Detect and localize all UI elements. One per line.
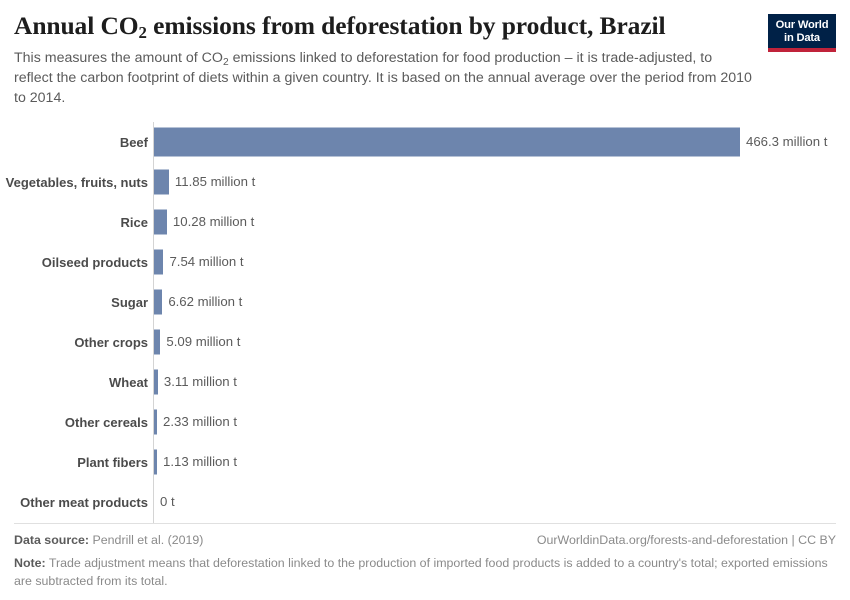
chart-header: Annual CO2 emissions from deforestation … [0, 0, 850, 108]
bar-row[interactable]: Other crops5.09 million t [0, 322, 850, 362]
bar-category-label: Plant fibers [0, 456, 148, 469]
bar[interactable] [154, 128, 740, 157]
bar[interactable] [154, 210, 167, 235]
bar[interactable] [154, 330, 160, 355]
bar-value-label: 6.62 million t [168, 295, 242, 308]
bar-value-label: 0 t [160, 495, 175, 508]
bar-row[interactable]: Beef466.3 million t [0, 122, 850, 162]
title-text-post: emissions from deforestation by product,… [147, 11, 666, 40]
chart-footer: Data source: Pendrill et al. (2019) OurW… [0, 523, 850, 600]
title-subscript: 2 [139, 23, 147, 42]
footer-note: Note: Trade adjustment means that defore… [14, 555, 834, 600]
plot-area: Beef466.3 million tVegetables, fruits, n… [0, 122, 850, 523]
bar-category-label: Rice [0, 216, 148, 229]
page-title: Annual CO2 emissions from deforestation … [14, 12, 834, 41]
chart-subtitle: This measures the amount of CO2 emission… [14, 48, 754, 108]
bar-row[interactable]: Oilseed products7.54 million t [0, 242, 850, 282]
bar-category-label: Oilseed products [0, 256, 148, 269]
chart-container: Annual CO2 emissions from deforestation … [0, 0, 850, 600]
bar[interactable] [154, 450, 157, 475]
bar[interactable] [154, 250, 163, 275]
bar-category-label: Beef [0, 136, 148, 149]
bar[interactable] [154, 410, 157, 435]
owid-url-link[interactable]: OurWorldinData.org/forests-and-deforesta… [537, 533, 836, 547]
bar[interactable] [154, 370, 158, 395]
bar-category-label: Sugar [0, 296, 148, 309]
bar-value-label: 2.33 million t [163, 415, 237, 428]
footer-note-value: Trade adjustment means that deforestatio… [14, 556, 828, 587]
bar-row[interactable]: Plant fibers1.13 million t [0, 442, 850, 482]
bar-value-label: 7.54 million t [169, 255, 243, 268]
owid-logo-line-1: Our World [774, 19, 830, 32]
bar[interactable] [154, 290, 162, 315]
footer-top-row: Data source: Pendrill et al. (2019) OurW… [14, 533, 836, 547]
bar-row[interactable]: Wheat3.11 million t [0, 362, 850, 402]
title-text-pre: Annual CO [14, 11, 139, 40]
bar-category-label: Vegetables, fruits, nuts [0, 176, 148, 189]
footer-note-label: Note: [14, 556, 46, 570]
data-source-label: Data source: [14, 533, 89, 547]
bar-rows: Beef466.3 million tVegetables, fruits, n… [0, 122, 850, 523]
bar[interactable] [154, 170, 169, 195]
footer-divider [14, 523, 836, 524]
subtitle-subscript: 2 [223, 57, 229, 68]
bar-row[interactable]: Other meat products0 t [0, 482, 850, 522]
bar-value-label: 466.3 million t [746, 135, 827, 148]
bar-row[interactable]: Sugar6.62 million t [0, 282, 850, 322]
owid-logo[interactable]: Our World in Data [768, 14, 836, 52]
bar-row[interactable]: Vegetables, fruits, nuts11.85 million t [0, 162, 850, 202]
data-source: Data source: Pendrill et al. (2019) [14, 533, 203, 547]
bar-value-label: 3.11 million t [164, 375, 237, 388]
bar-value-label: 11.85 million t [175, 175, 255, 188]
bar-category-label: Other meat products [0, 496, 148, 509]
data-source-value: Pendrill et al. (2019) [93, 533, 204, 547]
bar-value-label: 1.13 million t [163, 455, 237, 468]
bar-value-label: 10.28 million t [173, 215, 254, 228]
bar-category-label: Other cereals [0, 416, 148, 429]
bar-value-label: 5.09 million t [166, 335, 240, 348]
subtitle-text-pre: This measures the amount of CO [14, 50, 223, 66]
bar-category-label: Other crops [0, 336, 148, 349]
bar-row[interactable]: Other cereals2.33 million t [0, 402, 850, 442]
bar-row[interactable]: Rice10.28 million t [0, 202, 850, 242]
bar-category-label: Wheat [0, 376, 148, 389]
owid-logo-line-2: in Data [774, 32, 830, 45]
